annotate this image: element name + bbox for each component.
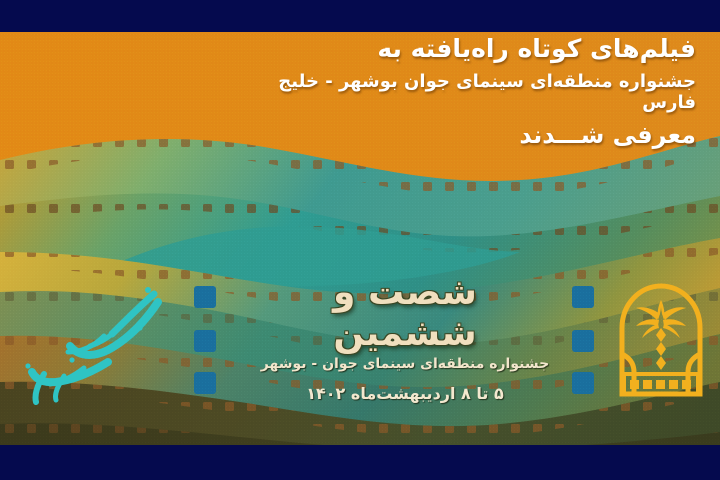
festival-subtitle: جشنواره منطقه‌ای سینمای جوان - بوشهر bbox=[260, 356, 550, 372]
top-navy-band bbox=[0, 0, 720, 32]
headline-line-2: جشنواره منطقه‌ای سینمای جوان بوشهر - خلی… bbox=[276, 71, 696, 113]
festival-title-block: شصت و ششمین جشنواره منطقه‌ای سینمای جوان… bbox=[260, 272, 550, 403]
persian-gulf-calligraphy: خلیج فارس bbox=[8, 276, 168, 406]
film-sprocket-column-left bbox=[194, 286, 216, 394]
film-sprocket-column-right bbox=[572, 286, 594, 394]
bottom-navy-band bbox=[0, 445, 720, 480]
festival-logo bbox=[616, 280, 706, 398]
festival-poster: فیلم‌های کوتاه راه‌یافته به جشنواره منطق… bbox=[0, 0, 720, 480]
palm-tree-icon bbox=[636, 300, 686, 370]
headline-line-1: فیلم‌های کوتاه راه‌یافته به bbox=[276, 34, 696, 64]
festival-date: ۵ تا ۸ اردیبهشت‌ماه ۱۴۰۲ bbox=[260, 384, 550, 403]
festival-ordinal: شصت و ششمین bbox=[260, 272, 550, 354]
headline-line-3: معرفی شـــدند bbox=[276, 121, 696, 149]
news-headline: فیلم‌های کوتاه راه‌یافته به جشنواره منطق… bbox=[276, 34, 696, 149]
